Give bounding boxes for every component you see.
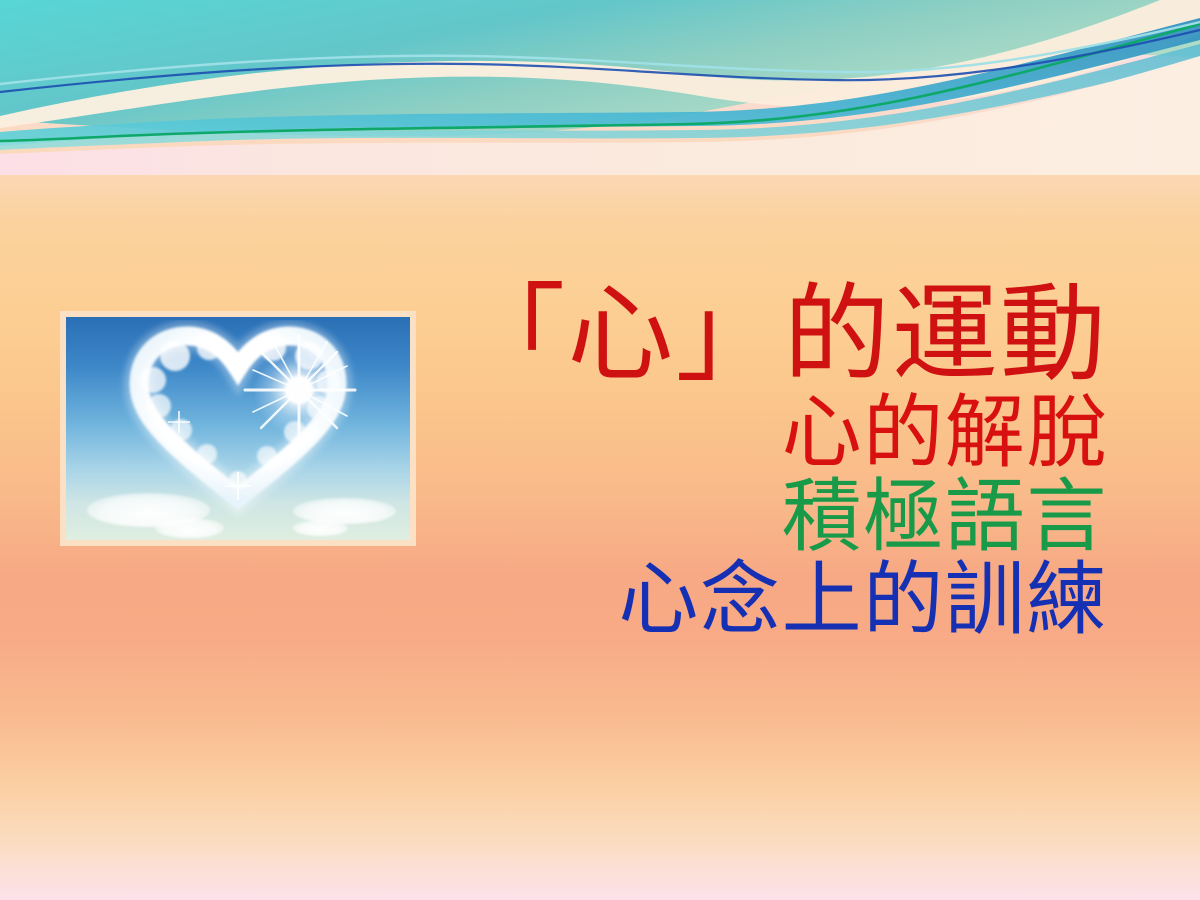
low-cloud-left-small (155, 518, 224, 538)
presentation-slide: 「心」的運動 心的解脫 積極語言 心念上的訓練 (0, 0, 1200, 900)
decorative-swoosh-banner (0, 0, 1200, 175)
banner-artwork (0, 0, 1200, 175)
slide-text-block: 「心」的運動 心的解脫 積極語言 心念上的訓練 (448, 282, 1108, 643)
heart-cloud-shape (113, 320, 363, 520)
cloud-heart-image-canvas (66, 317, 410, 540)
subtitle-line-3: 心念上的訓練 (448, 561, 1108, 643)
subtitle-line-2: 積極語言 (448, 478, 1108, 560)
subtitle-line-1: 心的解脫 (448, 394, 1108, 476)
page-title: 「心」的運動 (448, 282, 1108, 390)
cloud-heart-picture (60, 311, 416, 546)
low-cloud-right-small (293, 520, 348, 536)
